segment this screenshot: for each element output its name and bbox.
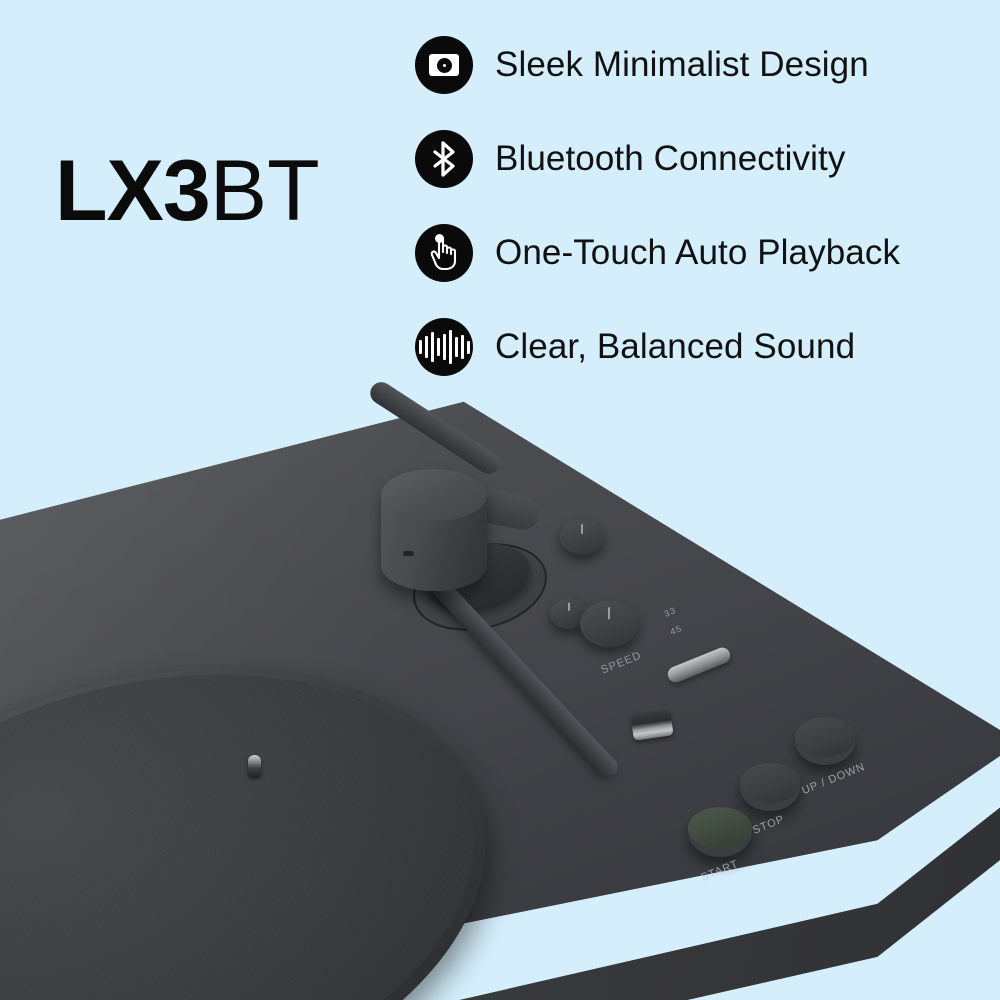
tap-hand-icon-badge — [415, 224, 473, 282]
brand-logo-bold: LX3 — [55, 143, 210, 239]
feature-item-bluetooth: Bluetooth Connectivity — [415, 122, 975, 196]
tap-hand-icon — [427, 235, 461, 271]
turntable-product-image: SPEED 33 45 START STOP UP / DOWN — [0, 395, 1000, 1000]
feature-item-design: Sleek Minimalist Design — [415, 28, 975, 102]
feature-label-bluetooth: Bluetooth Connectivity — [495, 139, 845, 179]
waveform-icon-badge — [415, 318, 473, 376]
speed-knob[interactable] — [580, 601, 638, 647]
feature-list: Sleek Minimalist Design Bluetooth Connec… — [415, 28, 975, 404]
feature-label-one-touch: One-Touch Auto Playback — [495, 233, 900, 273]
anti-skate-knob[interactable] — [560, 519, 604, 554]
tonearm-counterweight — [381, 469, 487, 591]
bluetooth-icon — [431, 141, 457, 177]
feature-item-one-touch: One-Touch Auto Playback — [415, 216, 975, 290]
bluetooth-icon-badge — [415, 130, 473, 188]
waveform-icon — [419, 330, 470, 364]
feature-label-sound: Clear, Balanced Sound — [495, 327, 855, 367]
tonearm-headshell — [630, 709, 673, 740]
spindle — [248, 755, 261, 777]
turntable-icon — [429, 54, 459, 76]
feature-label-design: Sleek Minimalist Design — [495, 45, 869, 85]
start-button[interactable] — [688, 807, 752, 857]
turntable-icon-badge — [415, 36, 473, 94]
feature-item-sound: Clear, Balanced Sound — [415, 310, 975, 384]
stop-button[interactable] — [740, 763, 800, 811]
brand-logo: LX3BT — [55, 148, 320, 234]
product-banner: LX3BT Sleek Minimalist Design Bluetooth … — [0, 0, 1000, 1000]
up-down-button[interactable] — [795, 717, 855, 765]
brand-logo-light: BT — [210, 143, 320, 239]
